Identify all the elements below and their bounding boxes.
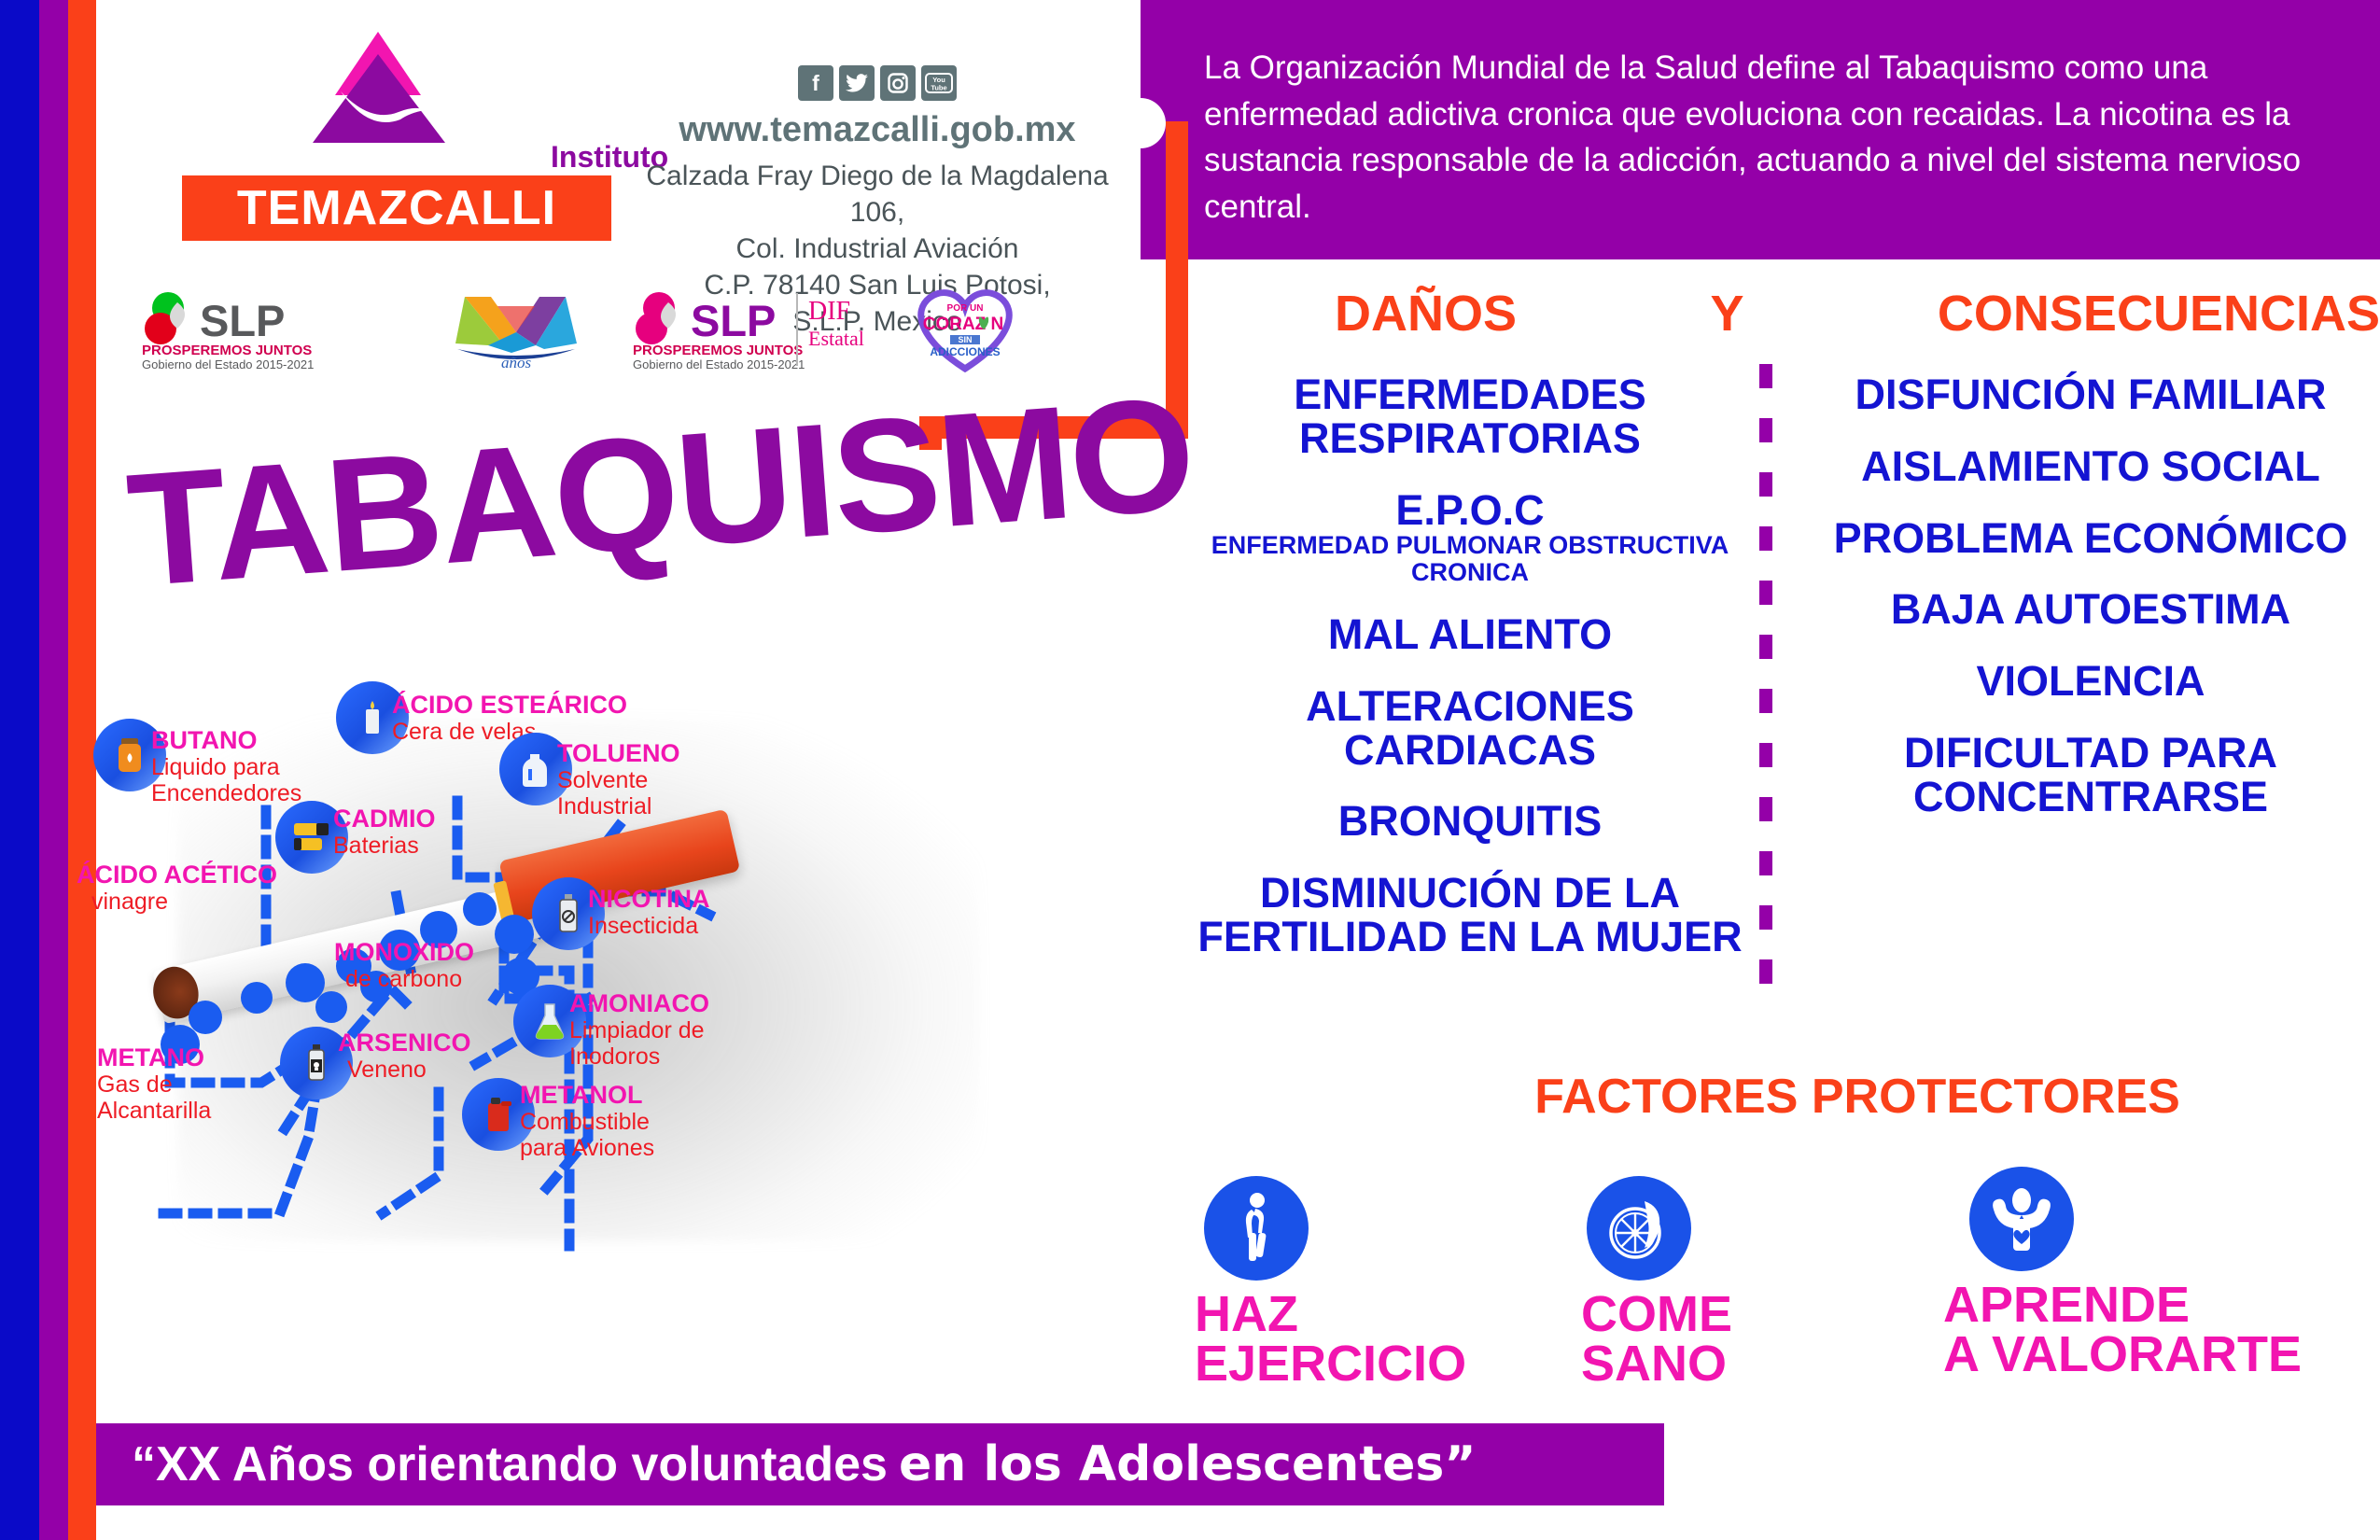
temazcalli-logo: Instituto TEMAZCALLI — [163, 26, 593, 143]
cigarette-dot — [463, 892, 497, 926]
address-line-1: Calzada Fray Diego de la Magdalena 106, — [635, 158, 1120, 231]
list-item: DISMINUCIÓN DE LA FERTILIDAD EN LA MUJER — [1195, 872, 1745, 959]
page-title: TABAQUISMO — [122, 361, 1199, 623]
chemical-name: ARSENICO — [338, 1029, 471, 1057]
chemical-use: Combustiblepara Aviones — [520, 1109, 654, 1161]
factor-label: COMESANO — [1581, 1290, 1732, 1389]
header-paragraph: La Organización Mundial de la Salud defi… — [1204, 45, 2361, 231]
svg-text:CORAZ N: CORAZ N — [923, 315, 1004, 334]
heading-consecuencias: CONSECUENCIAS — [1938, 285, 2380, 343]
instagram-icon[interactable] — [880, 65, 916, 101]
chemical-use: Baterias — [333, 833, 436, 859]
logo-name-bar: TEMAZCALLI — [182, 175, 611, 241]
edge-stripe-purple — [39, 0, 68, 1540]
chemical-label-monoxido: MONOXIDO de carbono — [334, 938, 474, 992]
svg-text:Gobierno del Estado 2015-2021: Gobierno del Estado 2015-2021 — [633, 357, 805, 371]
partner-logo-dif-estatal: SLP PROSPEREMOS JUNTOS Gobierno del Esta… — [631, 287, 864, 372]
chemical-use: SolventeIndustrial — [557, 767, 680, 819]
svg-text:PROSPEREMOS JUNTOS: PROSPEREMOS JUNTOS — [633, 343, 803, 358]
twitter-icon[interactable] — [839, 65, 875, 101]
svg-text:Tube: Tube — [931, 84, 946, 92]
chemical-use: de carbono — [334, 966, 474, 992]
chemical-label-butano: BUTANO Liquido paraEncendedores — [151, 726, 301, 806]
chemical-label-nicotina: NICOTINA Insecticida — [588, 885, 710, 939]
chemical-label-metanol: METANOL Combustiblepara Aviones — [520, 1081, 654, 1161]
chemical-use: Limpiador deInodoros — [569, 1017, 709, 1070]
list-item-main: E.P.O.C — [1395, 486, 1544, 534]
chemical-name: ÁCIDO ESTEÁRICO — [392, 691, 627, 719]
chemical-label-cadmio: CADMIO Baterias — [333, 805, 436, 859]
chemical-name: NICOTINA — [588, 885, 710, 913]
partner-logo-xx-anos: años — [446, 287, 586, 372]
address-line-2: Col. Industrial Aviación — [635, 231, 1120, 267]
chemical-name: ÁCIDO ACÉTICO — [77, 861, 277, 889]
chemical-use: Veneno — [338, 1057, 471, 1083]
chemical-name: METANOL — [520, 1081, 654, 1109]
svg-text:Estatal: Estatal — [808, 327, 864, 350]
bottom-banner: “XX Años orientando voluntades en los Ad… — [96, 1423, 1664, 1505]
svg-text:SLP: SLP — [691, 296, 776, 345]
banner-text-part1: “XX Años orientando voluntades — [132, 1436, 888, 1492]
chemical-use: vinagre — [77, 889, 277, 915]
factor-label: HAZEJERCICIO — [1195, 1290, 1466, 1389]
heading-y: Y — [1710, 285, 1743, 343]
partner-logo-slp-1: SLP PROSPEREMOS JUNTOS Gobierno del Esta… — [140, 287, 401, 372]
partner-logo-corazon-sin-adicciones: POR UN CORAZ N SIN SIN ADICCIONES — [909, 287, 1021, 372]
chemical-use: Gas deAlcantarilla — [97, 1071, 211, 1124]
edge-stripe-blue — [0, 0, 39, 1540]
chemical-name: CADMIO — [333, 805, 436, 833]
logo-mark-icon — [201, 26, 555, 143]
chemical-use: Liquido paraEncendedores — [151, 754, 301, 806]
connector-dot — [1115, 98, 1166, 148]
list-item: PROBLEMA ECONÓMICO — [1811, 517, 2371, 561]
chemical-name: MONOXIDO — [334, 938, 474, 966]
banner-text-part2: en los Adolescentes” — [899, 1436, 1477, 1492]
list-item: ALTERACIONES CARDIACAS — [1195, 685, 1745, 773]
factor-haz-ejercicio: HAZEJERCICIO — [1204, 1176, 1466, 1389]
edge-stripe-orange — [68, 0, 96, 1540]
svg-text:ADICCIONES: ADICCIONES — [930, 345, 1000, 358]
list-item: DISFUNCIÓN FAMILIAR — [1811, 373, 2371, 417]
chemical-name: AMONIACO — [569, 989, 709, 1017]
person-heart-icon — [1969, 1167, 2074, 1271]
chemical-label-metano: METANO Gas deAlcantarilla — [97, 1043, 211, 1124]
orange-slice-icon — [1587, 1176, 1691, 1281]
chemical-label-acido-acetico: ÁCIDO ACÉTICO vinagre — [77, 861, 277, 915]
svg-text:DIF: DIF — [808, 297, 850, 326]
chemical-name: TOLUENO — [557, 739, 680, 767]
chemical-use: Insecticida — [588, 913, 710, 939]
partner-logos-row: SLP PROSPEREMOS JUNTOS Gobierno del Esta… — [140, 285, 849, 373]
chemical-name: METANO — [97, 1043, 211, 1071]
list-item: BRONQUITIS — [1195, 800, 1745, 844]
danos-list: ENFERMEDADES RESPIRATORIAS E.P.O.C ENFER… — [1195, 373, 1745, 987]
section-headings-row: DAÑOS Y CONSECUENCIAS — [1335, 285, 2380, 343]
list-item: E.P.O.C ENFERMEDAD PULMONAR OBSTRUCTIVA … — [1195, 489, 1745, 585]
running-person-icon — [1204, 1176, 1309, 1281]
factores-protectores-title: FACTORES PROTECTORES — [1335, 1069, 2380, 1125]
website-url[interactable]: www.temazcalli.gob.mx — [635, 110, 1120, 150]
factor-come-sano: COMESANO — [1587, 1176, 1732, 1389]
chemical-label-amoniaco: AMONIACO Limpiador deInodoros — [569, 989, 709, 1070]
factor-aprende-a-valorarte: APRENDEA VALORARTE — [1969, 1167, 2302, 1379]
svg-text:SLP: SLP — [200, 296, 285, 345]
svg-text:Gobierno del Estado 2015-2021: Gobierno del Estado 2015-2021 — [142, 357, 314, 371]
list-item-sub: ENFERMEDAD PULMONAR OBSTRUCTIVA CRONICA — [1195, 532, 1745, 585]
chemical-label-tolueno: TOLUENO SolventeIndustrial — [557, 739, 680, 819]
factor-label: APRENDEA VALORARTE — [1943, 1281, 2302, 1379]
chemical-label-arsenico: ARSENICO Veneno — [338, 1029, 471, 1083]
logo-name-label: TEMAZCALLI — [237, 180, 556, 236]
cigarette-dot — [189, 1001, 222, 1034]
svg-text:PROSPEREMOS JUNTOS: PROSPEREMOS JUNTOS — [142, 343, 312, 358]
column-divider — [1759, 364, 1772, 1008]
cigarette-dot — [315, 991, 347, 1023]
svg-text:POR UN: POR UN — [947, 303, 984, 314]
cigarette-dot — [241, 982, 273, 1014]
list-item: MAL ALIENTO — [1195, 613, 1745, 657]
list-item: BAJA AUTOESTIMA — [1811, 588, 2371, 632]
facebook-icon[interactable]: f — [798, 65, 833, 101]
youtube-icon[interactable]: YouTube — [921, 65, 957, 101]
cigarette-dot — [495, 915, 534, 954]
chemical-name: BUTANO — [151, 726, 301, 754]
list-item: VIOLENCIA — [1811, 660, 2371, 704]
svg-text:SIN: SIN — [958, 335, 972, 344]
list-item: ENFERMEDADES RESPIRATORIAS — [1195, 373, 1745, 461]
consecuencias-list: DISFUNCIÓN FAMILIAR AISLAMIENTO SOCIAL P… — [1811, 373, 2371, 847]
chemical-label-acido-estearico: ÁCIDO ESTEÁRICO Cera de velas — [392, 691, 627, 745]
list-item: DIFICULTAD PARA CONCENTRARSE — [1811, 732, 2371, 819]
social-icons-row[interactable]: f YouTube — [635, 65, 1120, 101]
svg-text:años: años — [501, 354, 532, 371]
list-item: AISLAMIENTO SOCIAL — [1811, 445, 2371, 489]
heading-danos: DAÑOS — [1335, 285, 1517, 343]
cigarette-diagram: BUTANO Liquido paraEncendedores ÁCIDO ES… — [103, 691, 1129, 1372]
